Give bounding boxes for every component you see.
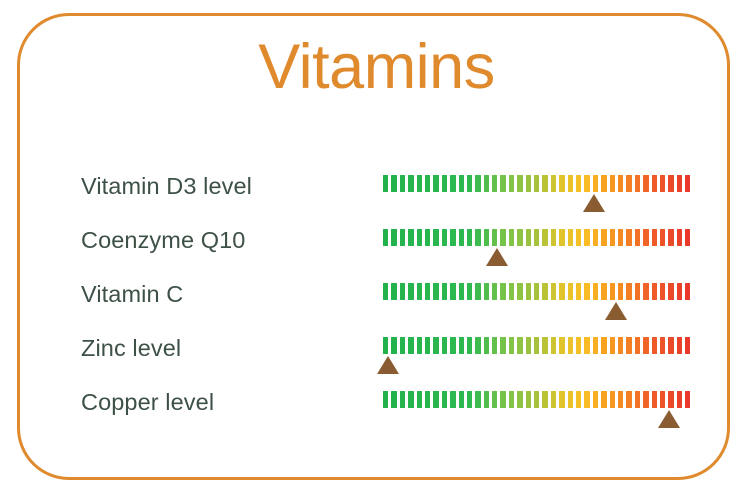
scale-segment <box>509 391 514 408</box>
scale-segment <box>425 175 430 192</box>
scale-segment <box>425 229 430 246</box>
measurement-label: Zinc level <box>81 335 181 361</box>
scale-segment <box>685 391 690 408</box>
scale-segment <box>643 229 648 246</box>
scale-segment <box>601 175 606 192</box>
scale-segment <box>677 229 682 246</box>
scale-segment <box>677 283 682 300</box>
scale-segment <box>601 229 606 246</box>
scale-segment <box>685 337 690 354</box>
scale-segment <box>408 283 413 300</box>
scale-segment <box>593 283 598 300</box>
scale-segment <box>584 229 589 246</box>
scale-segment <box>425 283 430 300</box>
scale-segment <box>635 391 640 408</box>
scale-segment <box>542 337 547 354</box>
scale-segment <box>417 283 422 300</box>
scale-segment <box>551 283 556 300</box>
poster-canvas: Vitamins Vitamin D3 levelCoenzyme Q10Vit… <box>0 0 753 500</box>
scale-segment <box>442 391 447 408</box>
scale-segment <box>450 337 455 354</box>
scale-segment <box>559 283 564 300</box>
scale-segment <box>660 337 665 354</box>
scale-segment <box>584 337 589 354</box>
scale-segment <box>484 337 489 354</box>
scale-segment <box>685 283 690 300</box>
scale-segment <box>433 391 438 408</box>
scale-segment <box>643 391 648 408</box>
scale-segment <box>500 391 505 408</box>
scale-segment <box>618 229 623 246</box>
scale-segment <box>517 391 522 408</box>
scale-segment <box>677 391 682 408</box>
scale-segment <box>668 391 673 408</box>
scale-segment <box>559 229 564 246</box>
scale-segment <box>408 337 413 354</box>
measurement-label: Vitamin C <box>81 281 183 307</box>
scale-segment <box>391 229 396 246</box>
scale-segment <box>400 229 405 246</box>
scale-segment <box>668 283 673 300</box>
gradient-scale-bar <box>383 229 691 246</box>
scale-segment <box>467 283 472 300</box>
scale-segment <box>492 283 497 300</box>
scale-segment <box>593 229 598 246</box>
scale-segment <box>534 283 539 300</box>
scale-segment <box>551 391 556 408</box>
scale-segment <box>635 337 640 354</box>
scale-segment <box>467 229 472 246</box>
scale-segment <box>509 337 514 354</box>
scale-segment <box>576 391 581 408</box>
scale-segment <box>450 283 455 300</box>
scale-segment <box>652 391 657 408</box>
scale-segment <box>551 229 556 246</box>
scale-segment <box>475 229 480 246</box>
scale-segment <box>626 337 631 354</box>
scale-segment <box>635 229 640 246</box>
scale-segment <box>584 283 589 300</box>
scale-segment <box>526 283 531 300</box>
scale-segment <box>517 337 522 354</box>
scale-segment <box>618 337 623 354</box>
scale-segment <box>610 229 615 246</box>
scale-segment <box>576 283 581 300</box>
scale-segment <box>442 337 447 354</box>
scale-segment <box>492 175 497 192</box>
scale-segment <box>408 175 413 192</box>
scale-segment <box>601 283 606 300</box>
scale-segment <box>618 391 623 408</box>
scale-segment <box>526 175 531 192</box>
scale-segment <box>610 175 615 192</box>
scale-segment <box>459 229 464 246</box>
scale-segment <box>500 283 505 300</box>
scale-segment <box>484 283 489 300</box>
scale-segment <box>433 175 438 192</box>
scale-segment <box>626 391 631 408</box>
scale-segment <box>459 283 464 300</box>
scale-segment <box>551 175 556 192</box>
scale-segment <box>660 283 665 300</box>
scale-segment <box>391 175 396 192</box>
scale-segment <box>492 229 497 246</box>
scale-segment <box>475 337 480 354</box>
scale-segment <box>542 283 547 300</box>
scale-segment <box>610 337 615 354</box>
scale-segment <box>685 229 690 246</box>
scale-segment <box>383 391 388 408</box>
scale-segment <box>660 175 665 192</box>
scale-segment <box>500 229 505 246</box>
measurement-scale[interactable] <box>383 337 691 383</box>
scale-segment <box>652 229 657 246</box>
scale-segment <box>601 337 606 354</box>
scale-segment <box>660 229 665 246</box>
scale-segment <box>534 175 539 192</box>
scale-segment <box>668 229 673 246</box>
scale-segment <box>391 391 396 408</box>
scale-segment <box>383 175 388 192</box>
scale-segment <box>442 175 447 192</box>
scale-segment <box>484 391 489 408</box>
scale-segment <box>459 175 464 192</box>
scale-segment <box>593 175 598 192</box>
scale-segment <box>542 175 547 192</box>
scale-segment <box>652 175 657 192</box>
scale-segment <box>425 391 430 408</box>
gradient-scale-bar <box>383 391 691 408</box>
scale-segment <box>610 283 615 300</box>
scale-segment <box>576 229 581 246</box>
scale-segment <box>526 391 531 408</box>
scale-segment <box>626 175 631 192</box>
level-marker-triangle-icon[interactable] <box>605 302 627 320</box>
scale-segment <box>626 283 631 300</box>
scale-segment <box>568 283 573 300</box>
scale-segment <box>467 391 472 408</box>
gradient-scale-bar <box>383 337 691 354</box>
scale-segment <box>618 175 623 192</box>
scale-segment <box>593 337 598 354</box>
measurement-row-list: Vitamin D3 levelCoenzyme Q10Vitamin CZin… <box>0 0 753 500</box>
scale-segment <box>576 175 581 192</box>
scale-segment <box>652 337 657 354</box>
scale-segment <box>450 391 455 408</box>
scale-segment <box>400 175 405 192</box>
scale-segment <box>643 283 648 300</box>
scale-segment <box>610 391 615 408</box>
measurement-label: Coenzyme Q10 <box>81 227 245 253</box>
scale-segment <box>601 391 606 408</box>
scale-segment <box>459 337 464 354</box>
scale-segment <box>526 337 531 354</box>
scale-segment <box>500 337 505 354</box>
scale-segment <box>660 391 665 408</box>
scale-segment <box>425 337 430 354</box>
measurement-label: Vitamin D3 level <box>81 173 252 199</box>
scale-segment <box>442 283 447 300</box>
scale-segment <box>584 391 589 408</box>
scale-segment <box>618 283 623 300</box>
level-marker-triangle-icon[interactable] <box>583 194 605 212</box>
measurement-scale[interactable] <box>383 391 691 437</box>
scale-segment <box>467 175 472 192</box>
measurement-row: Coenzyme Q10 <box>0 227 753 281</box>
scale-segment <box>383 337 388 354</box>
measurement-row: Vitamin D3 level <box>0 173 753 227</box>
scale-segment <box>383 283 388 300</box>
gradient-scale-bar <box>383 283 691 300</box>
scale-segment <box>576 337 581 354</box>
scale-segment <box>492 391 497 408</box>
scale-segment <box>433 229 438 246</box>
scale-segment <box>450 229 455 246</box>
measurement-scale[interactable] <box>383 175 691 221</box>
scale-segment <box>559 337 564 354</box>
scale-segment <box>467 337 472 354</box>
scale-segment <box>509 229 514 246</box>
level-marker-triangle-icon[interactable] <box>377 356 399 374</box>
scale-segment <box>484 175 489 192</box>
scale-segment <box>643 175 648 192</box>
scale-segment <box>417 175 422 192</box>
scale-segment <box>668 337 673 354</box>
scale-segment <box>643 337 648 354</box>
scale-segment <box>593 391 598 408</box>
scale-segment <box>442 229 447 246</box>
scale-segment <box>542 229 547 246</box>
scale-segment <box>568 175 573 192</box>
scale-segment <box>677 337 682 354</box>
scale-segment <box>635 175 640 192</box>
scale-segment <box>459 391 464 408</box>
scale-segment <box>475 391 480 408</box>
scale-segment <box>492 337 497 354</box>
scale-segment <box>475 175 480 192</box>
scale-segment <box>391 283 396 300</box>
scale-segment <box>568 337 573 354</box>
scale-segment <box>433 337 438 354</box>
gradient-scale-bar <box>383 175 691 192</box>
scale-segment <box>509 283 514 300</box>
scale-segment <box>475 283 480 300</box>
scale-segment <box>417 229 422 246</box>
scale-segment <box>509 175 514 192</box>
measurement-scale[interactable] <box>383 283 691 329</box>
scale-segment <box>652 283 657 300</box>
scale-segment <box>568 229 573 246</box>
scale-segment <box>500 175 505 192</box>
scale-segment <box>408 391 413 408</box>
scale-segment <box>526 229 531 246</box>
scale-segment <box>400 283 405 300</box>
scale-segment <box>391 337 396 354</box>
scale-segment <box>417 391 422 408</box>
scale-segment <box>677 175 682 192</box>
scale-segment <box>668 175 673 192</box>
scale-segment <box>534 391 539 408</box>
scale-segment <box>542 391 547 408</box>
scale-segment <box>551 337 556 354</box>
measurement-row: Zinc level <box>0 335 753 389</box>
scale-segment <box>626 229 631 246</box>
scale-segment <box>517 229 522 246</box>
measurement-label: Copper level <box>81 389 214 415</box>
measurement-row: Copper level <box>0 389 753 443</box>
scale-segment <box>517 283 522 300</box>
scale-segment <box>635 283 640 300</box>
scale-segment <box>534 229 539 246</box>
scale-segment <box>559 175 564 192</box>
level-marker-triangle-icon[interactable] <box>486 248 508 266</box>
measurement-scale[interactable] <box>383 229 691 275</box>
scale-segment <box>685 175 690 192</box>
scale-segment <box>450 175 455 192</box>
scale-segment <box>417 337 422 354</box>
level-marker-triangle-icon[interactable] <box>658 410 680 428</box>
scale-segment <box>433 283 438 300</box>
scale-segment <box>584 175 589 192</box>
scale-segment <box>400 337 405 354</box>
measurement-row: Vitamin C <box>0 281 753 335</box>
scale-segment <box>400 391 405 408</box>
scale-segment <box>534 337 539 354</box>
scale-segment <box>484 229 489 246</box>
scale-segment <box>517 175 522 192</box>
scale-segment <box>559 391 564 408</box>
scale-segment <box>408 229 413 246</box>
scale-segment <box>383 229 388 246</box>
scale-segment <box>568 391 573 408</box>
